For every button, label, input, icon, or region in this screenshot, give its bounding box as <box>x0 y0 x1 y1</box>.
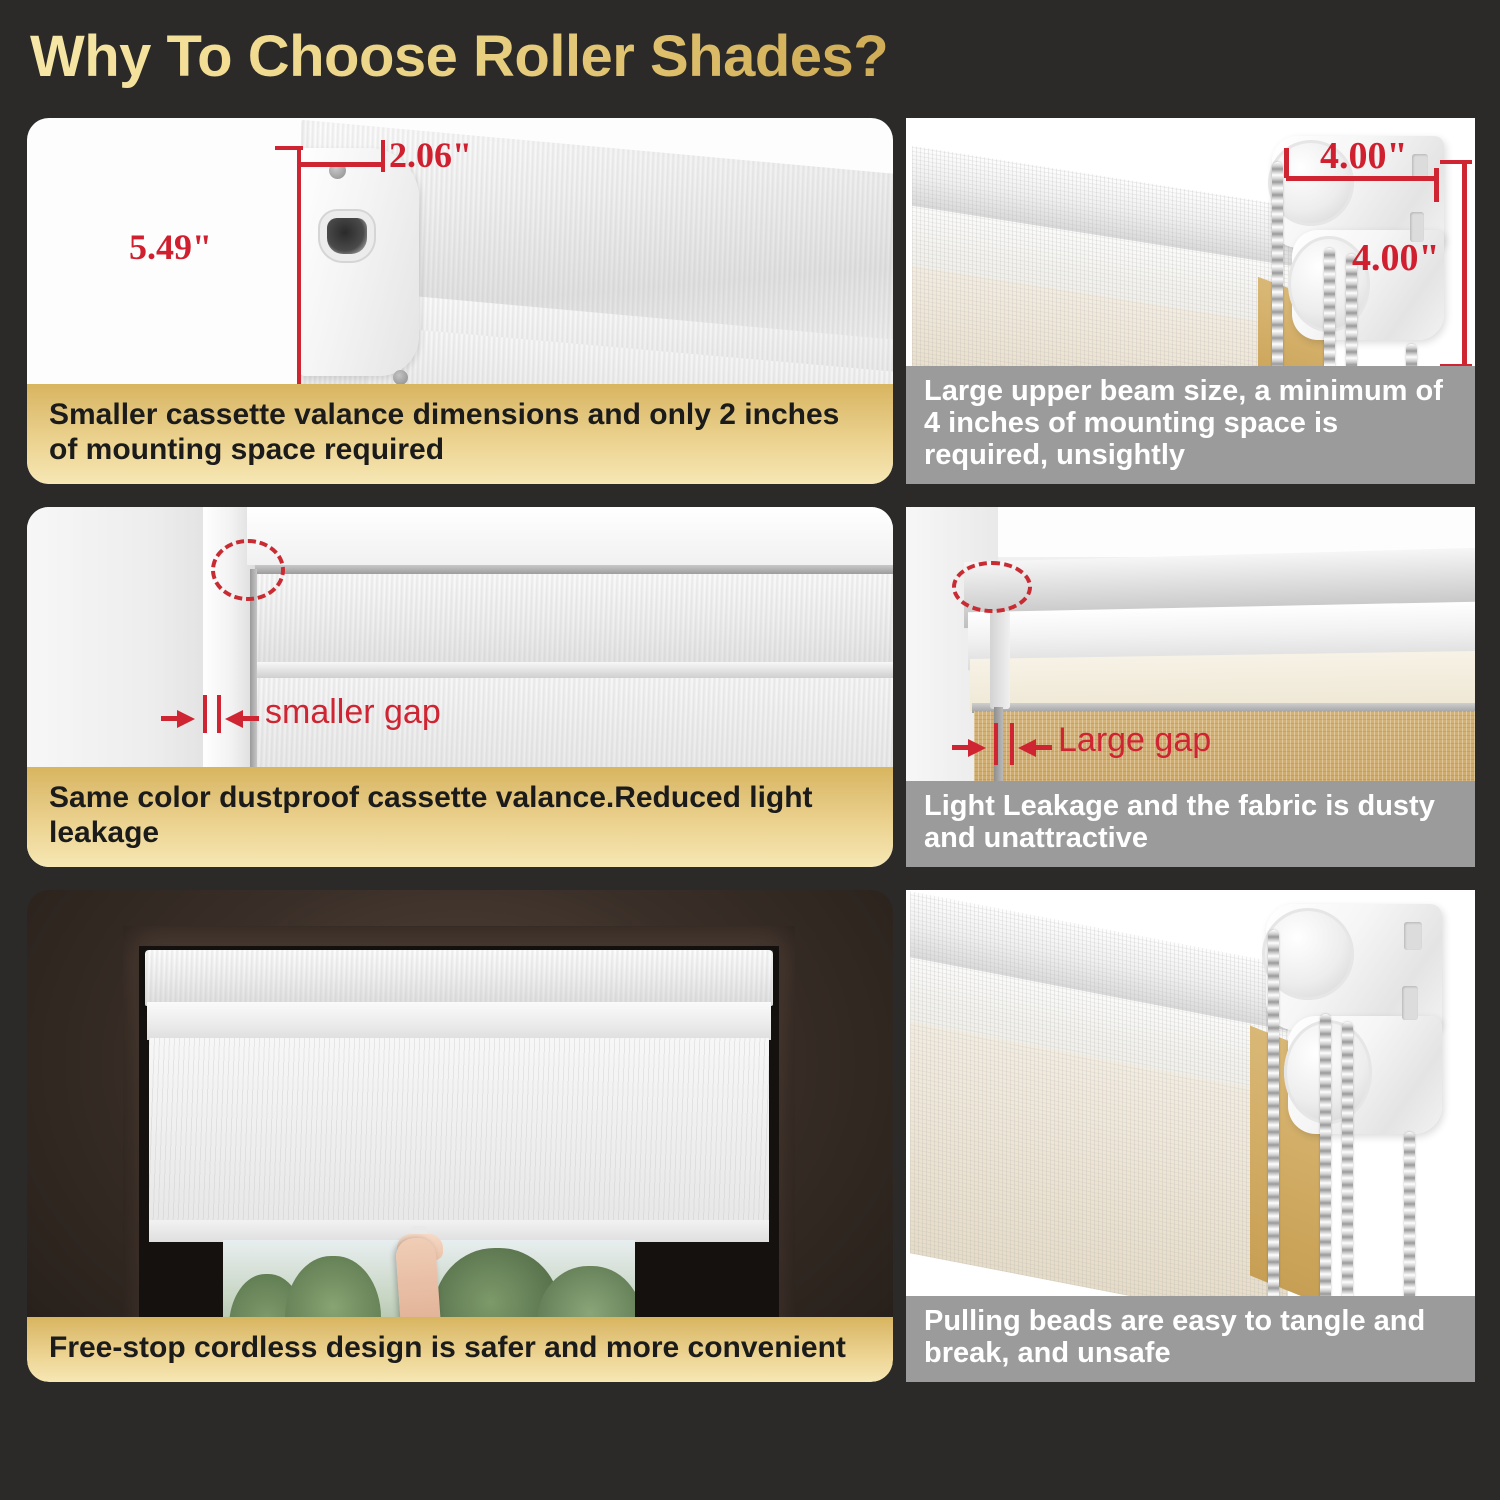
cassette-valance <box>145 950 773 1006</box>
gap-label-smaller: smaller gap <box>265 693 441 732</box>
cassette-lip <box>255 662 893 678</box>
caption-large-upper-beam: Large upper beam size, a minimum of 4 in… <box>906 366 1475 484</box>
panel-large-upper-beam: 4.00" 4.00" Large upper beam size, a min… <box>906 118 1475 484</box>
side-gap-shadow <box>250 569 257 793</box>
gap-tick-right <box>1010 723 1014 765</box>
gap-arrow-stem <box>952 745 970 750</box>
fabric-texture <box>255 574 893 668</box>
cassette-lower-face <box>147 1002 771 1040</box>
gap-arrow-stem-2 <box>241 716 259 721</box>
beam-width-tick-left <box>1284 148 1289 178</box>
end-cap-slot <box>327 218 367 254</box>
room-photo-cordless-shade <box>27 890 893 1382</box>
cassette-valance <box>255 574 893 668</box>
panel-dustproof-cassette-valance: smaller gap Same color dustproof cassett… <box>27 507 893 867</box>
gap-tick-left <box>203 695 207 733</box>
shade-hem-bar <box>149 1220 769 1242</box>
height-dim-tick-top <box>275 146 303 150</box>
width-dim-line <box>299 162 385 167</box>
caption-light-leakage: Light Leakage and the fabric is dusty an… <box>906 781 1475 867</box>
screw-icon <box>393 370 408 385</box>
beam-width-tick-right <box>1434 168 1439 202</box>
panel-free-stop-cordless: Free-stop cordless design is safer and m… <box>27 890 893 1382</box>
infographic-page: Why To Choose Roller Shades? 2.06" 5.49"… <box>0 0 1500 1500</box>
gap-tick-left <box>994 723 998 765</box>
page-title: Why To Choose Roller Shades? <box>30 22 1130 92</box>
caption-smaller-cassette-valance: Smaller cassette valance dimensions and … <box>27 384 893 484</box>
beam-height-label: 4.00" <box>1352 236 1440 280</box>
caption-free-stop-cordless: Free-stop cordless design is safer and m… <box>27 1317 893 1382</box>
fabric-texture <box>145 950 773 1006</box>
window-head-jamb <box>247 507 893 565</box>
height-dim-line <box>297 146 301 358</box>
bracket-slot <box>1404 922 1422 950</box>
gap-tick-right <box>217 695 221 733</box>
caption-dustproof-cassette-valance: Same color dustproof cassette valance.Re… <box>27 767 893 867</box>
roller-shade-fabric <box>149 1038 769 1228</box>
gap-label-large: Large gap <box>1058 721 1211 760</box>
caption-pulling-beads: Pulling beads are easy to tangle and bre… <box>906 1296 1475 1382</box>
bracket-post <box>990 611 1010 709</box>
panel-pulling-beads: Pulling beads are easy to tangle and bre… <box>906 890 1475 1382</box>
panel-smaller-cassette-valance: 2.06" 5.49" Smaller cassette valance dim… <box>27 118 893 484</box>
panel-light-leakage: Large gap Light Leakage and the fabric i… <box>906 507 1475 867</box>
height-dim-label: 5.49" <box>129 226 212 268</box>
beam-height-dim-line <box>1462 162 1467 368</box>
highlight-circle-annotation <box>211 539 285 601</box>
bracket-slot <box>1402 986 1418 1020</box>
beam-width-label: 4.00" <box>1320 134 1408 178</box>
gap-arrow-stem <box>161 716 179 721</box>
cassette-top-rail <box>255 565 893 574</box>
width-dim-tick-right <box>381 140 385 172</box>
beam-height-tick-top <box>1440 160 1472 164</box>
highlight-circle-annotation <box>952 561 1032 613</box>
width-dim-label: 2.06" <box>389 134 472 176</box>
gap-arrow-stem-2 <box>1034 745 1052 750</box>
gap-arrow-right-icon <box>968 739 986 757</box>
cream-valance-strip <box>970 651 1475 711</box>
valance-end-cap <box>299 148 419 376</box>
gap-arrow-right-icon <box>177 710 195 728</box>
